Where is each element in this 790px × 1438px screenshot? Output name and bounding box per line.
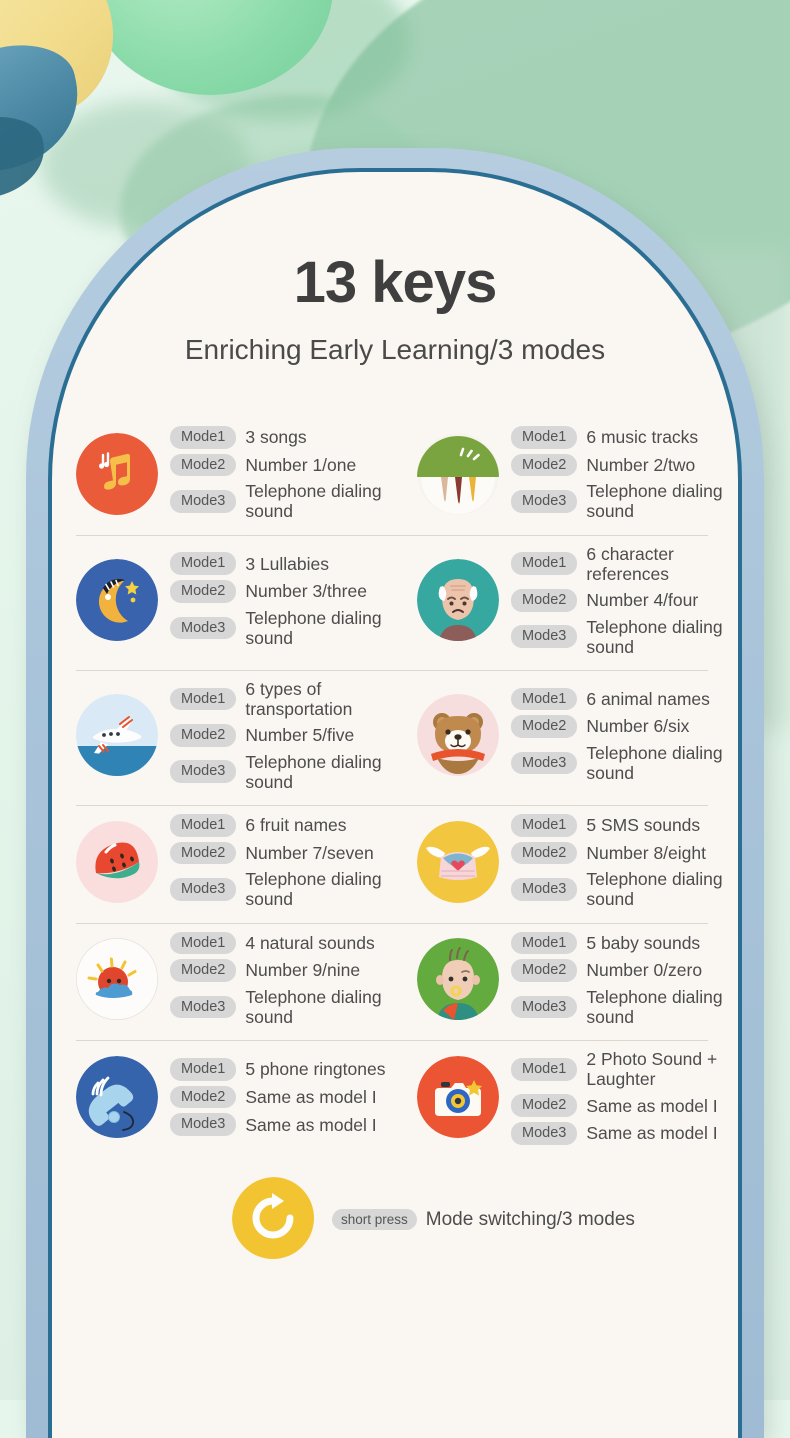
mode-description: Number 4/four [586, 590, 698, 610]
mode-pill: Mode1 [511, 552, 577, 575]
mode-description: Same as model I [586, 1123, 717, 1143]
mode-pill: Mode1 [511, 426, 577, 449]
mode-description: Number 1/one [245, 455, 356, 475]
bear-icon [417, 694, 499, 776]
mode-line: Mode15 phone ringtones [170, 1058, 385, 1081]
feature-modes: Mode13 LullabiesMode2Number 3/threeMode3… [170, 552, 395, 648]
watermelon-icon [76, 821, 158, 903]
mode-line: Mode3Telephone dialing sound [170, 481, 395, 521]
mode-description: 6 types of transportation [245, 679, 395, 719]
mode-pill: Mode1 [511, 1058, 577, 1081]
sleeping-moon-icon [76, 559, 158, 641]
mode-line: Mode2Number 4/four [511, 589, 738, 612]
mode-description: 6 fruit names [245, 815, 346, 835]
feature-cell: Mode16 character referencesMode2Number 4… [395, 544, 738, 657]
bottom-mode-line: short press Mode switching/3 modes [332, 1209, 635, 1231]
mode-description: Number 2/two [586, 455, 695, 475]
mode-description: Same as model I [586, 1096, 717, 1116]
mode-pill: Mode2 [170, 454, 236, 477]
mode-description: Telephone dialing sound [586, 481, 738, 521]
info-card-shell: 13 keys Enriching Early Learning/3 modes… [26, 148, 764, 1438]
mode-description: Telephone dialing sound [245, 987, 395, 1027]
mode-pill: Mode2 [511, 589, 577, 612]
mode-description: 5 SMS sounds [586, 815, 700, 835]
piano-keys-icon [417, 433, 499, 515]
mode-pill: Mode3 [511, 625, 577, 648]
feature-modes: Mode13 songsMode2Number 1/oneMode3Teleph… [170, 426, 395, 522]
repeat-arrow-icon [232, 1177, 318, 1263]
feature-row: Mode16 fruit namesMode2Number 7/sevenMod… [52, 806, 738, 924]
sunrise-cloud-icon [76, 938, 158, 1020]
mode-line: Mode16 types of transportation [170, 679, 395, 719]
mode-pill: Mode2 [511, 959, 577, 982]
mode-description: Number 3/three [245, 581, 367, 601]
mode-line: Mode3Same as model I [511, 1122, 738, 1145]
mode-pill: Mode1 [511, 814, 577, 837]
mode-description: Number 9/nine [245, 960, 360, 980]
short-press-pill: short press [332, 1209, 417, 1231]
mode-line: Mode2Number 8/eight [511, 842, 738, 865]
feature-cell: Mode15 SMS soundsMode2Number 8/eightMode… [395, 814, 738, 910]
mode-line: Mode3Telephone dialing sound [170, 987, 395, 1027]
mode-line: Mode2Number 6/six [511, 715, 738, 738]
mode-description: Number 5/five [245, 725, 354, 745]
mode-description: Telephone dialing sound [245, 608, 395, 648]
feature-cell: Mode16 types of transportationMode2Numbe… [52, 679, 395, 792]
mode-description: Same as model I [245, 1115, 376, 1135]
page-title: 13 keys [52, 254, 738, 312]
mode-line: Mode13 Lullabies [170, 552, 395, 575]
mode-line: Mode2Number 7/seven [170, 842, 395, 865]
feature-modes: Mode16 music tracksMode2Number 2/twoMode… [511, 426, 738, 522]
mode-line: Mode15 SMS sounds [511, 814, 738, 837]
feature-cell: Mode13 songsMode2Number 1/oneMode3Teleph… [52, 426, 395, 522]
winged-envelope-icon [417, 821, 499, 903]
mode-pill: Mode3 [170, 878, 236, 901]
page-subtitle: Enriching Early Learning/3 modes [52, 334, 738, 366]
feature-cell: Mode14 natural soundsMode2Number 9/nineM… [52, 932, 395, 1028]
feature-row: Mode16 types of transportationMode2Numbe… [52, 671, 738, 806]
mode-line: Mode15 baby sounds [511, 932, 738, 955]
mode-line: Mode3Telephone dialing sound [511, 743, 738, 783]
mode-pill: Mode1 [170, 1058, 236, 1081]
feature-cell: Mode12 Photo Sound + LaughterMode2Same a… [395, 1049, 738, 1145]
elderly-person-icon [417, 559, 499, 641]
mode-description: 4 natural sounds [245, 933, 374, 953]
mode-description: Telephone dialing sound [586, 869, 738, 909]
mode-pill: Mode3 [170, 490, 236, 513]
mode-pill: Mode3 [170, 617, 236, 640]
mode-description: Telephone dialing sound [245, 752, 395, 792]
mode-description: Number 7/seven [245, 843, 373, 863]
mode-description: Same as model I [245, 1087, 376, 1107]
mode-line: Mode2Number 1/one [170, 454, 395, 477]
mode-pill: Mode2 [170, 580, 236, 603]
mode-description: Telephone dialing sound [586, 743, 738, 783]
feature-cell: Mode16 fruit namesMode2Number 7/sevenMod… [52, 814, 395, 910]
mode-pill: Mode2 [170, 1086, 236, 1109]
feature-modes: Mode16 types of transportationMode2Numbe… [170, 679, 395, 792]
mode-description: 2 Photo Sound + Laughter [586, 1049, 738, 1089]
mode-description: Number 0/zero [586, 960, 702, 980]
feature-cell: Mode15 baby soundsMode2Number 0/zeroMode… [395, 932, 738, 1028]
mode-line: Mode3Telephone dialing sound [511, 987, 738, 1027]
feature-row: Mode15 phone ringtonesMode2Same as model… [52, 1041, 738, 1159]
feature-cell: Mode15 phone ringtonesMode2Same as model… [52, 1049, 395, 1145]
mode-line: Mode2Same as model I [170, 1086, 385, 1109]
mode-description: 3 songs [245, 427, 306, 447]
mode-pill: Mode1 [170, 932, 236, 955]
mode-description: 5 baby sounds [586, 933, 700, 953]
feature-modes: Mode15 baby soundsMode2Number 0/zeroMode… [511, 932, 738, 1028]
feature-modes: Mode12 Photo Sound + LaughterMode2Same a… [511, 1049, 738, 1145]
mode-line: Mode2Number 5/five [170, 724, 395, 747]
ringing-telephone-icon [76, 1056, 158, 1138]
mode-line: Mode3Telephone dialing sound [511, 617, 738, 657]
mode-line: Mode2Number 2/two [511, 454, 738, 477]
mode-description: 6 animal names [586, 689, 710, 709]
mode-pill: Mode1 [170, 426, 236, 449]
mode-line: Mode16 music tracks [511, 426, 738, 449]
bottom-feature-row: short press Mode switching/3 modes [52, 1177, 738, 1263]
feature-modes: Mode15 phone ringtonesMode2Same as model… [170, 1058, 385, 1136]
feature-list: Mode13 songsMode2Number 1/oneMode3Teleph… [52, 418, 738, 1159]
mode-pill: Mode1 [170, 552, 236, 575]
feature-row: Mode13 LullabiesMode2Number 3/threeMode3… [52, 536, 738, 671]
mode-pill: Mode2 [511, 454, 577, 477]
mode-line: Mode14 natural sounds [170, 932, 395, 955]
feature-modes: Mode16 character referencesMode2Number 4… [511, 544, 738, 657]
bottom-feature-modes: short press Mode switching/3 modes [332, 1209, 635, 1231]
mode-line: Mode2Number 9/nine [170, 959, 395, 982]
mode-pill: Mode2 [511, 842, 577, 865]
mode-pill: Mode3 [511, 1122, 577, 1145]
feature-row: Mode13 songsMode2Number 1/oneMode3Teleph… [52, 418, 738, 536]
mode-pill: Mode2 [511, 1094, 577, 1117]
mode-pill: Mode3 [511, 878, 577, 901]
mode-pill: Mode2 [511, 715, 577, 738]
mode-pill: Mode2 [170, 724, 236, 747]
mode-description: 6 music tracks [586, 427, 698, 447]
mode-pill: Mode1 [511, 932, 577, 955]
mode-pill: Mode3 [170, 1113, 236, 1136]
feature-cell: Mode13 LullabiesMode2Number 3/threeMode3… [52, 544, 395, 657]
feature-row: Mode14 natural soundsMode2Number 9/nineM… [52, 924, 738, 1042]
mode-line: Mode3Telephone dialing sound [170, 869, 395, 909]
mode-line: Mode2Number 0/zero [511, 959, 738, 982]
baby-face-icon [417, 938, 499, 1020]
feature-modes: Mode14 natural soundsMode2Number 9/nineM… [170, 932, 395, 1028]
mode-pill: Mode3 [511, 996, 577, 1019]
mode-pill: Mode1 [170, 814, 236, 837]
mode-pill: Mode1 [170, 688, 236, 711]
mode-description: Telephone dialing sound [245, 481, 395, 521]
mode-description: 3 Lullabies [245, 554, 329, 574]
mode-pill: Mode3 [511, 752, 577, 775]
mode-line: Mode3Telephone dialing sound [170, 752, 395, 792]
mode-line: Mode3Telephone dialing sound [511, 481, 738, 521]
music-note-icon [76, 433, 158, 515]
mode-description: Number 8/eight [586, 843, 706, 863]
mode-line: Mode16 fruit names [170, 814, 395, 837]
mode-pill: Mode1 [511, 688, 577, 711]
feature-cell: Mode16 music tracksMode2Number 2/twoMode… [395, 426, 738, 522]
airplane-icon [76, 694, 158, 776]
mode-line: Mode3Telephone dialing sound [511, 869, 738, 909]
mode-description: Number 6/six [586, 716, 689, 736]
mode-line: Mode13 songs [170, 426, 395, 449]
mode-description: 5 phone ringtones [245, 1059, 385, 1079]
mode-line: Mode2Number 3/three [170, 580, 395, 603]
mode-line: Mode2Same as model I [511, 1094, 738, 1117]
mode-pill: Mode3 [170, 760, 236, 783]
mode-line: Mode16 character references [511, 544, 738, 584]
mode-pill: Mode3 [170, 996, 236, 1019]
mode-description: Telephone dialing sound [586, 617, 738, 657]
mode-pill: Mode2 [170, 959, 236, 982]
mode-line: Mode3Same as model I [170, 1113, 385, 1136]
camera-icon [417, 1056, 499, 1138]
feature-cell: Mode16 animal namesMode2Number 6/sixMode… [395, 679, 738, 792]
mode-description: 6 character references [586, 544, 738, 584]
mode-line: Mode3Telephone dialing sound [170, 608, 395, 648]
feature-modes: Mode15 SMS soundsMode2Number 8/eightMode… [511, 814, 738, 910]
mode-description: Telephone dialing sound [245, 869, 395, 909]
mode-line: Mode16 animal names [511, 688, 738, 711]
bottom-mode-text: Mode switching/3 modes [426, 1209, 635, 1231]
feature-modes: Mode16 fruit namesMode2Number 7/sevenMod… [170, 814, 395, 910]
mode-description: Telephone dialing sound [586, 987, 738, 1027]
info-card: 13 keys Enriching Early Learning/3 modes… [52, 172, 738, 1438]
mode-line: Mode12 Photo Sound + Laughter [511, 1049, 738, 1089]
mode-pill: Mode2 [170, 842, 236, 865]
mode-pill: Mode3 [511, 490, 577, 513]
feature-modes: Mode16 animal namesMode2Number 6/sixMode… [511, 688, 738, 784]
